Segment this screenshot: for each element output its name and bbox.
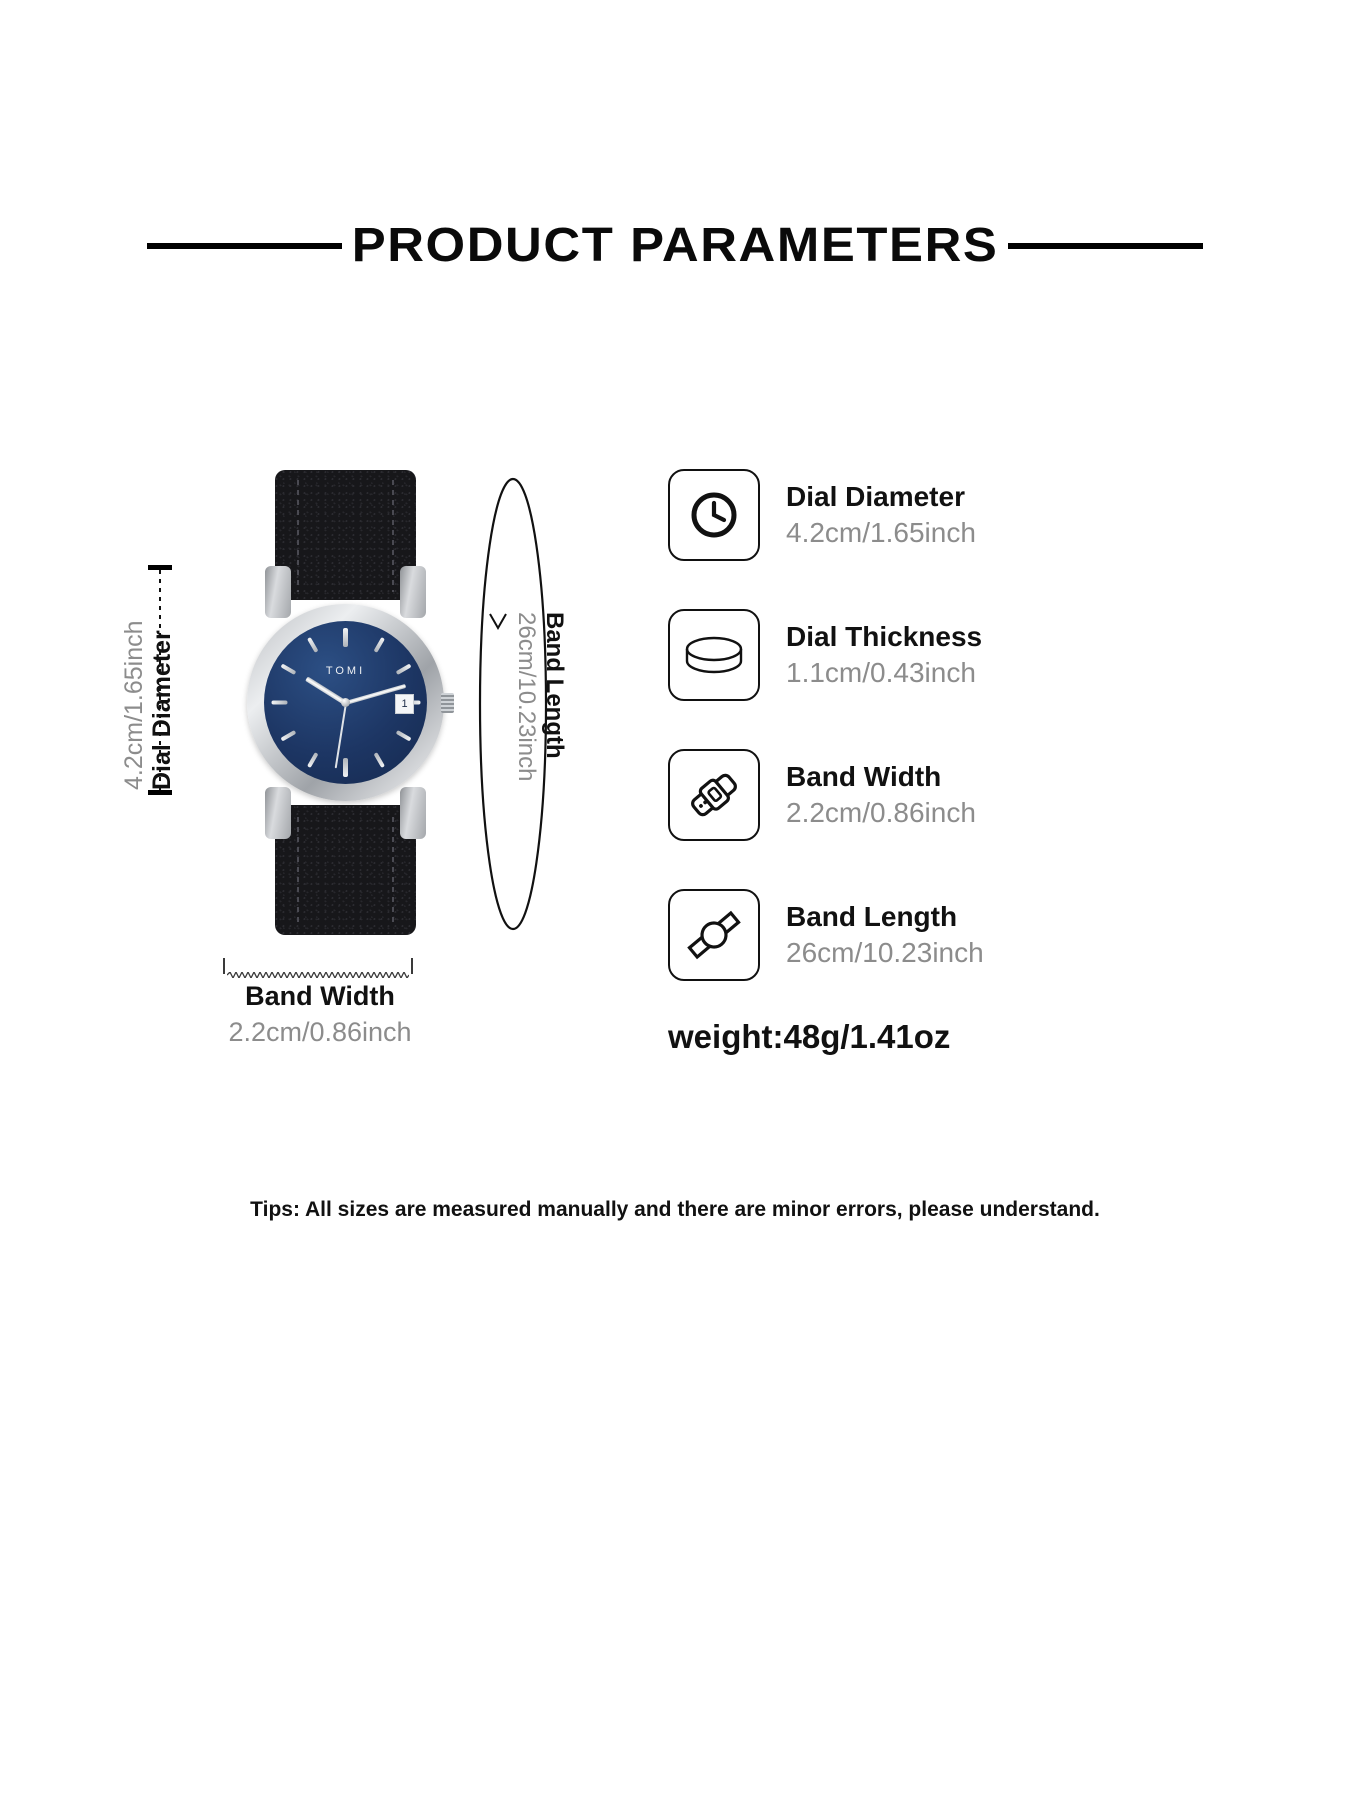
- spec-value-band-width: 2.2cm/0.86inch: [786, 795, 976, 831]
- hands-pinion: [341, 698, 350, 707]
- spec-label-dial-diameter: Dial Diameter: [786, 479, 976, 515]
- dial-diameter-callout-title: Dial Diameter: [148, 630, 176, 790]
- spec-value-dial-diameter: 4.2cm/1.65inch: [786, 515, 976, 551]
- stitch-line-left-lower: [297, 817, 299, 927]
- dial-brand-text: TOMI: [264, 665, 427, 677]
- band-width-cap-left: [223, 958, 225, 974]
- clock-icon: [668, 469, 760, 561]
- watch-product-image: TOMI 1: [243, 470, 448, 935]
- spec-label-band-width: Band Width: [786, 759, 976, 795]
- watch-crown: [441, 693, 454, 713]
- hour-marker-6: [343, 758, 348, 777]
- hour-marker-8: [280, 730, 296, 741]
- band-length-callout-value-wrap: 26cm/10.23inch: [512, 612, 540, 781]
- band-length-callout-title: Band Length: [540, 612, 568, 759]
- spec-text-band-length: Band Length 26cm/10.23inch: [786, 899, 984, 971]
- buckle-strap-icon: [668, 749, 760, 841]
- spec-value-band-length: 26cm/10.23inch: [786, 935, 984, 971]
- watch-dial: TOMI 1: [264, 621, 427, 784]
- spec-label-dial-thickness: Dial Thickness: [786, 619, 982, 655]
- spec-text-dial-diameter: Dial Diameter 4.2cm/1.65inch: [786, 479, 976, 551]
- lug-bottom-left: [265, 787, 291, 839]
- hour-marker-7: [307, 752, 318, 768]
- hour-marker-9: [271, 701, 287, 705]
- spec-value-dial-thickness: 1.1cm/0.43inch: [786, 655, 982, 691]
- spec-row-band-width: Band Width 2.2cm/0.86inch: [668, 743, 1098, 847]
- watch-band-icon: [668, 889, 760, 981]
- weight-text: weight:48g/1.41oz: [668, 1018, 950, 1056]
- band-width-callout-value: 2.2cm/0.86inch: [150, 1014, 490, 1050]
- watch-case: TOMI 1: [243, 580, 448, 825]
- spec-label-band-length: Band Length: [786, 899, 984, 935]
- watch-bezel: TOMI 1: [247, 604, 444, 801]
- lug-bottom-right: [400, 787, 426, 839]
- spec-row-band-length: Band Length 26cm/10.23inch: [668, 883, 1098, 987]
- tips-note: Tips: All sizes are measured manually an…: [0, 1198, 1350, 1222]
- hour-marker-1: [373, 637, 384, 653]
- hour-marker-12: [343, 628, 348, 647]
- diagram-stage: TOMI 1 Dial Diameter 4.2cm/1.65inch: [0, 0, 1350, 1800]
- stitch-line-right-lower: [392, 817, 394, 927]
- dimension-cap-bottom: [148, 790, 172, 795]
- dial-diameter-callout-label: Dial Diameter: [148, 630, 177, 790]
- band-width-dimension-line: [223, 958, 413, 974]
- spec-text-band-width: Band Width 2.2cm/0.86inch: [786, 759, 976, 831]
- spec-row-dial-diameter: Dial Diameter 4.2cm/1.65inch: [668, 463, 1098, 567]
- band-width-callout-title: Band Width: [150, 978, 490, 1014]
- spec-text-dial-thickness: Dial Thickness 1.1cm/0.43inch: [786, 619, 982, 691]
- spec-row-dial-thickness: Dial Thickness 1.1cm/0.43inch: [668, 603, 1098, 707]
- lug-top-left: [265, 566, 291, 618]
- hour-marker-5: [373, 752, 384, 768]
- stitch-line-left: [297, 480, 299, 592]
- stitch-line-right: [392, 480, 394, 592]
- date-window: 1: [395, 694, 414, 714]
- band-width-callout: Band Width 2.2cm/0.86inch: [150, 978, 490, 1051]
- band-width-zigzag: [227, 963, 409, 969]
- lug-top-right: [400, 566, 426, 618]
- band-length-arrow-icon: [487, 612, 509, 638]
- spec-list: Dial Diameter 4.2cm/1.65inch Dial Thickn…: [668, 463, 1098, 1023]
- hour-marker-11: [307, 637, 318, 653]
- hour-marker-4: [395, 730, 411, 741]
- band-width-cap-right: [411, 958, 413, 974]
- disc-thickness-icon: [668, 609, 760, 701]
- dial-diameter-callout-value: 4.2cm/1.65inch: [120, 620, 148, 790]
- dial-diameter-callout-value-wrap: 4.2cm/1.65inch: [120, 620, 149, 790]
- band-length-callout-value: 26cm/10.23inch: [513, 612, 540, 781]
